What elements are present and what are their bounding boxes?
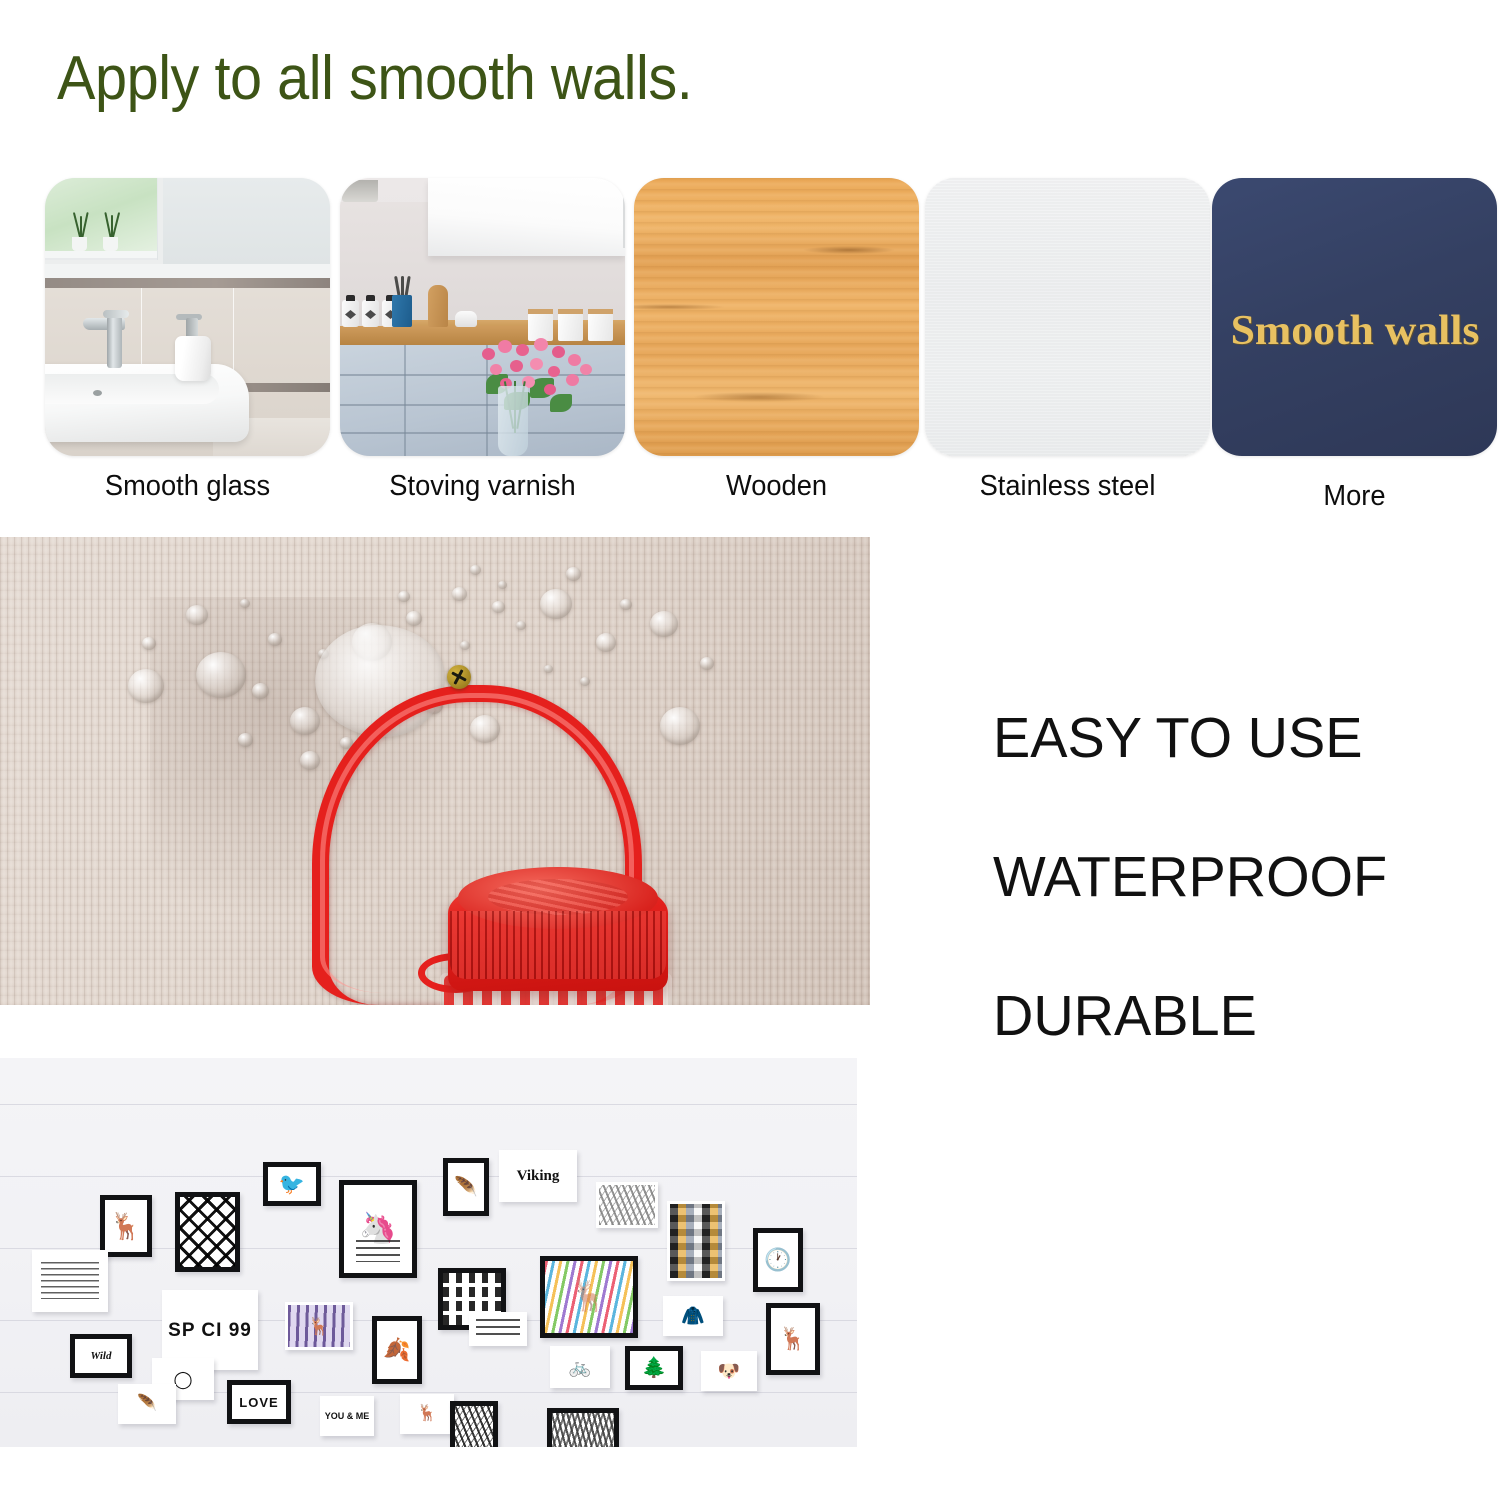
- navy-swatch-icon: Smooth walls: [1212, 178, 1497, 456]
- purple-forest-frame: 🦌: [285, 1302, 353, 1350]
- feature-list: EASY TO USE WATERPROOF DURABLE: [993, 710, 1395, 1045]
- bathroom-sink-icon: [45, 178, 330, 456]
- calligraphy-frame: [32, 1250, 108, 1312]
- surface-tile-label: More: [1221, 480, 1489, 513]
- love-arrows-frame: LOVE: [227, 1380, 291, 1424]
- surface-tile-row: Smooth glass: [0, 178, 1500, 523]
- wood-swatch-icon: [634, 178, 919, 456]
- surface-tile-more[interactable]: Smooth walls More: [1212, 178, 1497, 456]
- moustache-frame: 🧥: [663, 1296, 723, 1336]
- clock-frame: 🕐: [753, 1228, 803, 1292]
- smooth-walls-overlay-text: Smooth walls: [1230, 307, 1479, 355]
- color-grid-frame: [667, 1201, 725, 1281]
- feature-easy-to-use: EASY TO USE: [993, 710, 1387, 767]
- pine-tree-frame: 🌲: [625, 1346, 683, 1390]
- barcode-frame: [469, 1312, 527, 1346]
- surface-tile-label: Wooden: [643, 470, 911, 503]
- gallery-wall-photo: 🦌 🐦 🦄 🪶 Viking 🕐 🦌: [0, 1058, 857, 1447]
- antlers-quote-frame: 🦄: [339, 1180, 417, 1278]
- feather-frame-2: 🪶: [118, 1384, 176, 1424]
- bicycle-frame: 🚲: [550, 1346, 610, 1388]
- surface-tile-stoving-varnish[interactable]: Stoving varnish: [340, 178, 625, 456]
- feather-frame: 🪶: [443, 1158, 489, 1216]
- surface-tile-wooden[interactable]: Wooden: [634, 178, 919, 456]
- screw-icon: [447, 665, 471, 689]
- diamond-pattern-frame: [175, 1192, 240, 1272]
- kitchen-cabinet-icon: [340, 178, 625, 456]
- deer-small-frame: 🦌: [400, 1394, 454, 1434]
- bird-frame: 🐦: [263, 1162, 321, 1206]
- tree-scene-frame: [547, 1408, 619, 1447]
- surface-tile-smooth-glass[interactable]: Smooth glass: [45, 178, 330, 456]
- abstract-frame-2: [450, 1401, 498, 1447]
- abstract-frame: [596, 1182, 658, 1228]
- wild-frame: Wild: [70, 1334, 132, 1378]
- feature-waterproof: WATERPROOF: [993, 849, 1387, 906]
- surface-tile-label: Smooth glass: [54, 470, 322, 503]
- surface-tile-label: Stoving varnish: [349, 470, 617, 503]
- terrier-frame: 🐶: [701, 1351, 757, 1391]
- surface-tile-label: Stainless steel: [934, 470, 1202, 503]
- you-and-me-frame: YOU & ME: [320, 1396, 374, 1436]
- feature-durable: DURABLE: [993, 988, 1387, 1045]
- zebra-frame: 🦌: [540, 1256, 638, 1338]
- steel-swatch-icon: [925, 178, 1210, 456]
- page-title: Apply to all smooth walls.: [57, 48, 692, 110]
- stag-geometric-frame: 🦌: [766, 1303, 820, 1375]
- surface-tile-stainless-steel[interactable]: Stainless steel: [925, 178, 1210, 456]
- hook-demo-photo: [0, 537, 870, 1005]
- leaf-frame: 🍂: [372, 1316, 422, 1384]
- viking-frame: Viking: [499, 1150, 577, 1202]
- deer-head-frame: 🦌: [100, 1195, 152, 1257]
